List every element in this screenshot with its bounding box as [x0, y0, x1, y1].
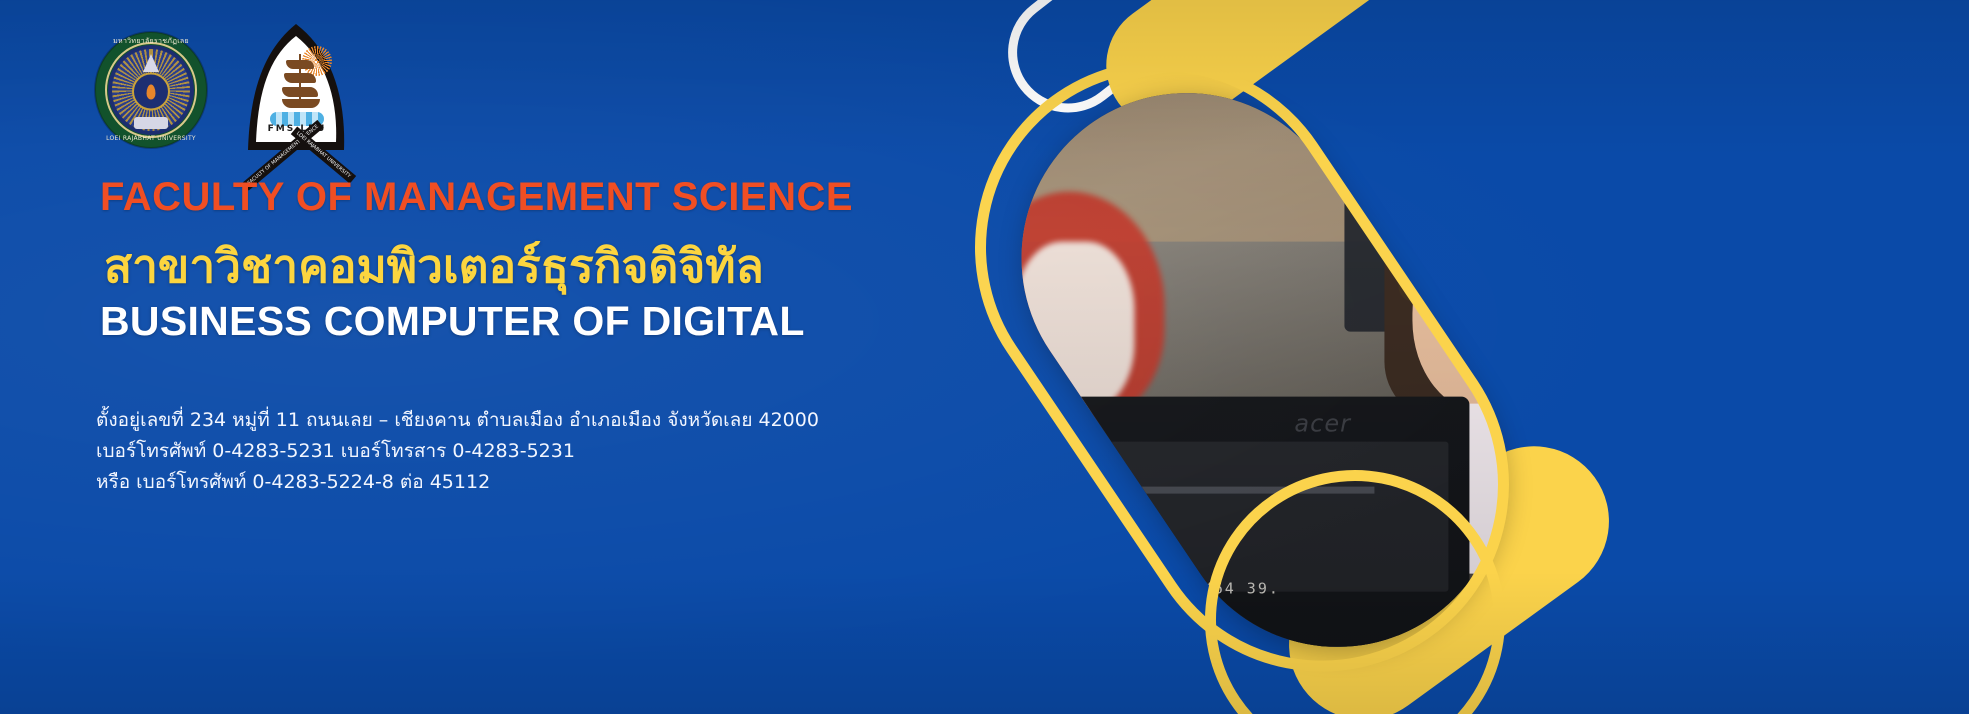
sailing-ship-icon	[280, 54, 322, 112]
loei-rajabhat-university-seal-icon: มหาวิทยาลัยราชภัฏเลย LOEI RAJABHAT UNIVE…	[92, 24, 210, 156]
phone-extension-line: หรือ เบอร์โทรศัพท์ 0-4283-5224-8 ต่อ 451…	[96, 467, 819, 498]
contact-address-block: ตั้งอยู่เลขที่ 234 หมู่ที่ 11 ถนนเลย – เ…	[96, 405, 819, 497]
faculty-banner: acer .01. 19 /64 39. มหาวิทยาลัยราชภัฏเล…	[0, 0, 1969, 714]
faculty-of-management-science-logo-icon: FMS LRU FACULTY OF MANAGEMENT SCIENCE LO…	[238, 24, 356, 164]
headline-block: FACULTY OF MANAGEMENT SCIENCE สาขาวิชาคอ…	[100, 176, 1000, 344]
program-subtitle-english: BUSINESS COMPUTER OF DIGITAL	[100, 299, 1000, 344]
logo-group: มหาวิทยาลัยราชภัฏเลย LOEI RAJABHAT UNIVE…	[92, 24, 356, 164]
phone-line: เบอร์โทรศัพท์ 0-4283-5231 เบอร์โทรสาร 0-…	[96, 436, 819, 467]
seal-bottom-text: LOEI RAJABHAT UNIVERSITY	[92, 135, 210, 142]
address-line: ตั้งอยู่เลขที่ 234 หมู่ที่ 11 ถนนเลย – เ…	[96, 405, 819, 436]
faculty-heading-english: FACULTY OF MANAGEMENT SCIENCE	[100, 176, 1000, 218]
program-heading-thai: สาขาวิชาคอมพิวเตอร์ธุรกิจดิจิทัล	[104, 240, 1000, 293]
